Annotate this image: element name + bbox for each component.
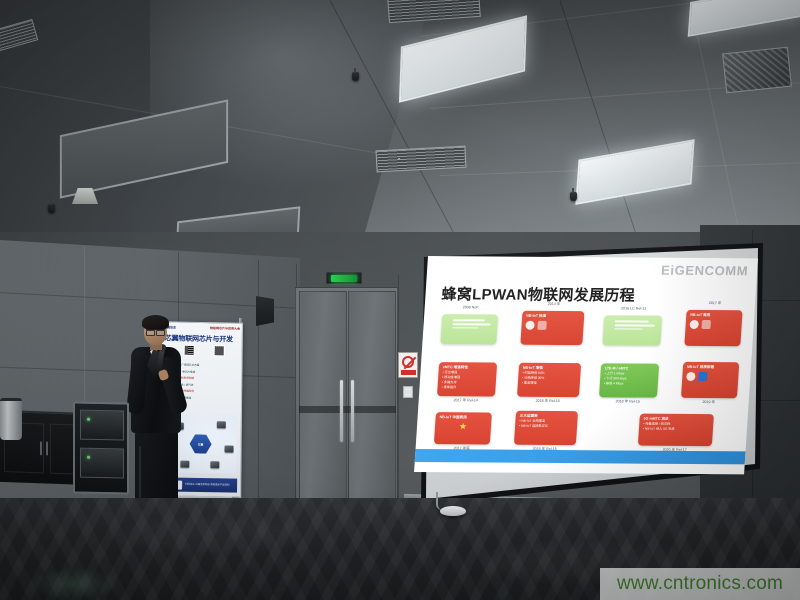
- hvac-diffuser: [398, 158, 400, 160]
- card-caption-bottom: 2018 年 Rel-15: [517, 399, 579, 404]
- banner-hub-label: 芯翼: [198, 442, 203, 446]
- slide-card: 三大运营商• NB-IoT 全网覆盖• NB-IoT 连接数过亿: [514, 411, 578, 445]
- presenter-hair: [142, 315, 169, 330]
- rack-unit: [80, 410, 124, 441]
- card-badge-icon: [689, 320, 699, 329]
- card-badge-icon: [698, 372, 708, 381]
- status-led: [87, 418, 90, 421]
- slide-card: eMTC 增强特性• 定位增强• 移动性增强• 多播支持• 速率提升: [437, 362, 497, 396]
- door-leaf-right[interactable]: [348, 291, 396, 510]
- card-badge-icon: [686, 372, 696, 381]
- card-badge-row: ★: [439, 423, 488, 432]
- card-caption-top: 2016 LC Rel-13: [605, 306, 663, 310]
- glasses-icon: [146, 329, 165, 334]
- card-row: • NB-IoT 连接数过亿: [519, 424, 573, 429]
- slide-card: NB-IoT 增强• 时延降低 50%• 功耗降低 30%• 覆盖增强: [517, 363, 581, 397]
- ceiling-seam: [690, 0, 741, 235]
- slide-card-grid: 2008 NoK2014 年NB-IoT 标准2016 LC Rel-13201…: [428, 306, 743, 450]
- slide-card: NB-IoT 中国商用★: [434, 412, 492, 444]
- card-badge-row: [525, 321, 580, 330]
- banner-header-text: 物联网芯片与应用大会: [210, 326, 240, 331]
- ceiling-light: [575, 139, 694, 205]
- card-badge-icon: [537, 321, 547, 330]
- card-title: NB-IoT 标准: [526, 314, 580, 320]
- slide-card: NB-IoT 标准: [520, 311, 584, 345]
- device-icon: [210, 461, 219, 468]
- card-placeholder-line: [615, 324, 655, 326]
- floor-power-adapter: [440, 506, 466, 516]
- card-caption-bottom: 2018 年 Rel-15: [599, 399, 657, 404]
- wall-seam: [398, 274, 399, 510]
- card-placeholder-line: [453, 319, 486, 321]
- door-frame: [295, 287, 398, 512]
- ceiling-sensor-icon: [48, 204, 55, 213]
- banner-footer-text: 扫码关注 芯翼信息科技 获取更多产品资料: [185, 483, 229, 487]
- device-icon: [224, 445, 233, 452]
- door-handle-left[interactable]: [340, 380, 343, 442]
- card-row: • NB-IoT 纳入 5G 标准: [643, 427, 709, 432]
- card-badge-row: [689, 320, 738, 329]
- card-placeholder-line: [452, 327, 478, 329]
- ceiling-sensor-icon: [570, 192, 577, 201]
- card-badge-row: [686, 372, 735, 381]
- light-switch[interactable]: [403, 386, 413, 398]
- slide-card: NB-IoT 商用: [684, 310, 742, 346]
- status-led: [87, 456, 90, 459]
- cabinet-handle[interactable]: [40, 441, 42, 455]
- exit-sign-glow: [331, 275, 357, 282]
- door-handle-right[interactable]: [351, 380, 354, 442]
- card-caption-top: 2008 NoK: [443, 305, 499, 309]
- ceiling-sensor-icon: [352, 72, 359, 81]
- card-row: • 速率提升: [441, 385, 491, 390]
- exit-sign: [326, 272, 362, 284]
- slide-logo: EiGENCOMM: [661, 263, 749, 279]
- air-vent: [375, 146, 466, 173]
- cabinet-handle[interactable]: [46, 442, 48, 456]
- device-icon: [217, 421, 226, 428]
- slide-card: LTE-M / eMTC• 上行 1 Mbps• 下行 800 kbps• 峰值…: [599, 363, 659, 397]
- water-thermos: [0, 398, 22, 440]
- card-caption-bottom: 2019 年: [681, 400, 737, 405]
- slide-card: NB-IoT 规模部署: [681, 362, 739, 398]
- card-title: NB-IoT 规模部署: [687, 365, 735, 371]
- slide-card: [440, 314, 498, 344]
- slide-accent-band: [415, 449, 746, 464]
- card-placeholder-line: [615, 321, 649, 323]
- slide-card: [602, 315, 662, 345]
- qr-code-icon: [214, 345, 225, 356]
- banner-hub-hex: 芯翼: [189, 434, 211, 453]
- card-row: • 覆盖增强: [522, 381, 576, 386]
- presentation-slide: EiGENCOMM 蜂窝LPWAN物联网发展历程 2008 NoK2014 年N…: [414, 256, 758, 474]
- card-badge-icon: [701, 320, 711, 329]
- ceiling-light: [688, 0, 800, 37]
- card-star-icon: ★: [459, 423, 468, 432]
- floor-highlight: [120, 520, 300, 550]
- wall-speaker-icon: [256, 296, 274, 326]
- floor-glow: [28, 568, 120, 600]
- equipment-rack: [73, 401, 129, 494]
- ceiling: [0, 0, 800, 252]
- card-placeholder-line: [614, 328, 642, 330]
- conference-room-photo: EiGENCOMM 蜂窝LPWAN物联网发展历程 2008 NoK2014 年N…: [0, 0, 800, 600]
- card-placeholder-line: [452, 323, 490, 325]
- rack-unit: [80, 448, 124, 479]
- card-caption-top: 2017 年: [687, 301, 743, 306]
- card-caption-top: 2014 年: [523, 302, 585, 307]
- card-title: NB-IoT 商用: [690, 313, 738, 319]
- card-caption-bottom: 2017 年 Rel-14: [437, 398, 495, 403]
- watermark-text: www.cntronics.com: [617, 573, 783, 595]
- card-badge-icon: [525, 321, 535, 330]
- watermark: www.cntronics.com: [600, 568, 800, 600]
- projection-screen: EiGENCOMM 蜂窝LPWAN物联网发展历程 2008 NoK2014 年N…: [415, 243, 763, 505]
- ceiling-seam: [560, 0, 638, 238]
- card-row: • 峰值 4 Mbps: [604, 382, 654, 387]
- card-title: NB-IoT 中国商用: [439, 415, 487, 421]
- slide-card: 5G mMTC 演进• 海量连接 / 低功耗• NB-IoT 纳入 5G 标准: [638, 414, 714, 447]
- door-kickplate: [299, 406, 396, 413]
- hvac-diffuser: [722, 47, 792, 94]
